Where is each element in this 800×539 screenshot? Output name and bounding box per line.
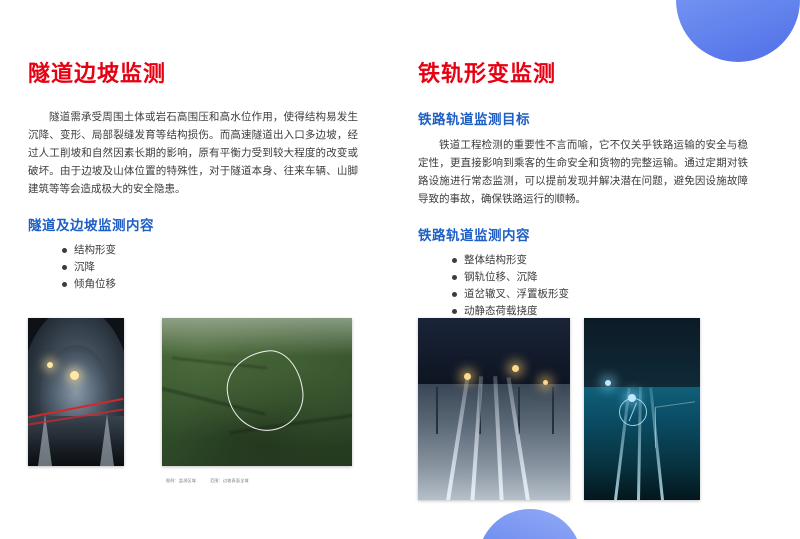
left-subtitle: 隧道及边坡监测内容 <box>28 214 358 234</box>
platform-sky <box>584 318 700 391</box>
railyard-post <box>436 387 438 434</box>
list-item: 道岔辙叉、浮置板形变 <box>452 286 748 303</box>
railyard-post <box>518 387 520 434</box>
left-bullet-list: 结构形变 沉降 倾角位移 <box>28 242 358 293</box>
rail-platform-night-photo <box>584 318 700 500</box>
tunnel-rail-right <box>100 414 114 466</box>
left-column: 隧道边坡监测 隧道需承受周围土体或岩石高围压和高水位作用，使得结构易发生沉降、变… <box>28 62 358 293</box>
right-column: 铁轨形变监测 铁路轨道监测目标 铁道工程检测的重要性不言而喻，它不仅关乎铁路运输… <box>418 62 748 320</box>
slope-legend-item: 范围：边坡表面全域 <box>210 478 249 484</box>
platform-emblem <box>619 398 647 426</box>
slope-haze <box>162 318 352 356</box>
decor-top-right-shape <box>676 0 800 62</box>
list-item: 结构形变 <box>62 242 358 259</box>
right-content-subtitle: 铁路轨道监测内容 <box>418 224 748 244</box>
right-goal-subtitle: 铁路轨道监测目标 <box>418 108 748 128</box>
slope-legend-item: 图例：监测区域 <box>166 478 196 484</box>
railyard-light <box>464 373 471 380</box>
right-intro-paragraph: 铁道工程检测的重要性不言而喻，它不仅关乎铁路运输的安全与稳定性，更直接影响到乘客… <box>418 136 748 208</box>
decor-blob <box>676 0 800 62</box>
platform-fence <box>655 402 695 449</box>
rail-yard-night-photo <box>418 318 570 500</box>
left-image-row <box>28 318 352 466</box>
slope-legend: 图例：监测区域 范围：边坡表面全域 <box>166 478 286 484</box>
list-item: 钢轨位移、沉降 <box>452 269 748 286</box>
right-section-title: 铁轨形变监测 <box>418 62 748 86</box>
left-section-title: 隧道边坡监测 <box>28 62 358 86</box>
list-item: 沉降 <box>62 259 358 276</box>
poster-page: 隧道边坡监测 隧道需承受周围土体或岩石高围压和高水位作用，使得结构易发生沉降、变… <box>0 0 800 539</box>
platform-light <box>605 380 611 386</box>
mountain-slope-photo <box>162 318 352 466</box>
right-image-row <box>418 318 700 500</box>
right-bullet-list: 整体结构形变 钢轨位移、沉降 道岔辙叉、浮置板形变 动静态荷载挠度 <box>418 252 748 320</box>
list-item: 倾角位移 <box>62 276 358 293</box>
railyard-post <box>552 387 554 434</box>
decor-bottom-shape <box>478 509 582 539</box>
railyard-light <box>543 380 548 385</box>
decor-blob <box>478 509 582 539</box>
tunnel-interior-photo <box>28 318 124 466</box>
left-intro-paragraph: 隧道需承受周围土体或岩石高围压和高水位作用，使得结构易发生沉降、变形、局部裂缝发… <box>28 108 358 198</box>
list-item: 整体结构形变 <box>452 252 748 269</box>
